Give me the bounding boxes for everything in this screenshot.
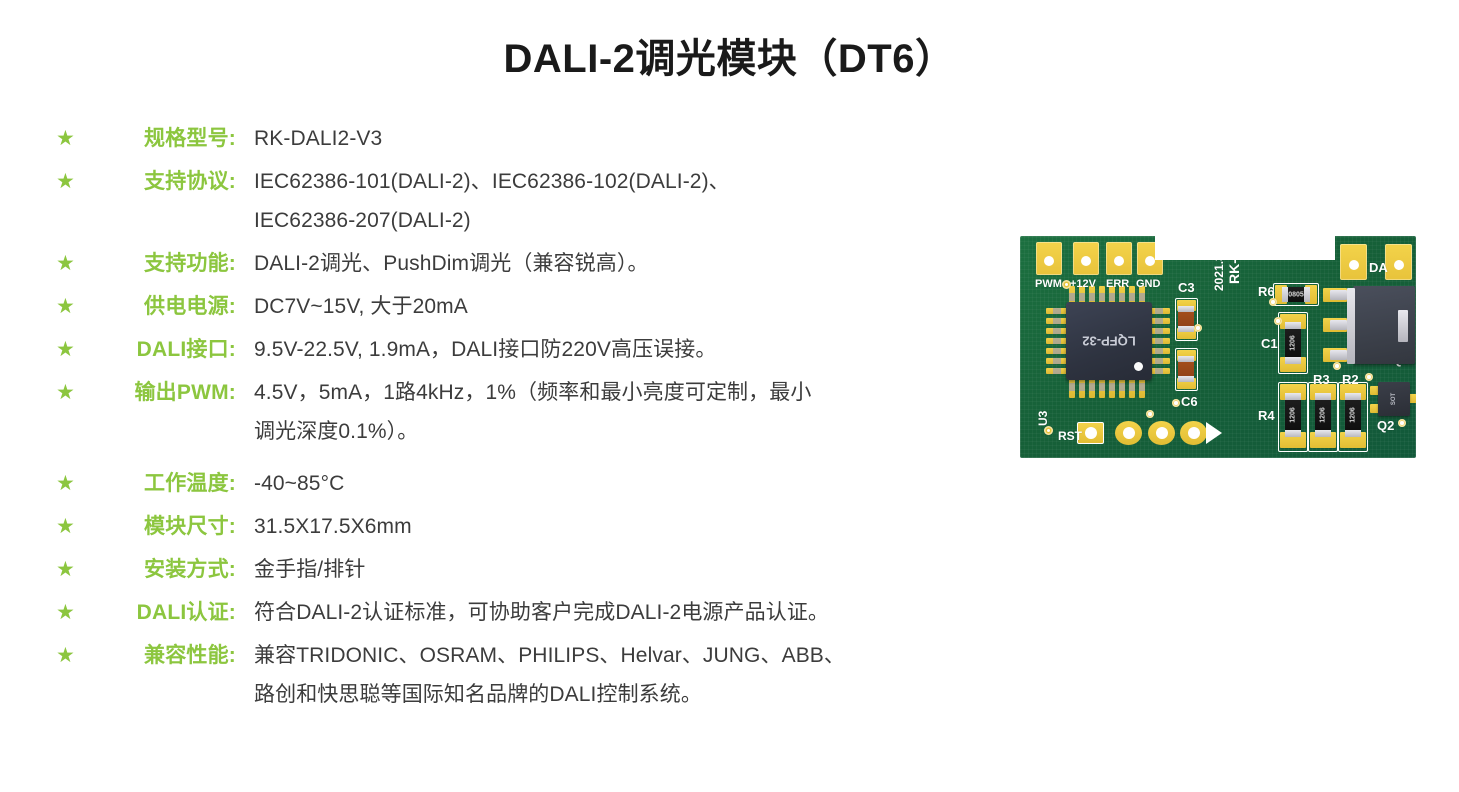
spec-value: 金手指/排针 — [236, 555, 952, 585]
via-hole — [1333, 362, 1341, 370]
spec-label: DALI接口: — [84, 335, 236, 365]
silk-r4: R4 — [1258, 408, 1275, 423]
spec-value: -40~85°C — [236, 469, 952, 499]
silk-rst: RST — [1058, 429, 1082, 443]
pad-da-right — [1385, 244, 1412, 280]
spec-value: IEC62386-101(DALI-2)、IEC62386-102(DALI-2… — [236, 167, 952, 197]
q3-lead-2 — [1330, 320, 1347, 330]
star-icon: ★ — [52, 167, 84, 197]
spec-row: ★ 安装方式: 金手指/排针 — [52, 555, 952, 585]
spec-value: DC7V~15V, 大于20mA — [236, 292, 952, 322]
star-icon: ★ — [52, 598, 84, 628]
star-icon: ★ — [52, 335, 84, 365]
pcb-top-notch — [1155, 234, 1335, 260]
spec-label: 模块尺寸: — [84, 512, 236, 542]
star-icon: ★ — [52, 378, 84, 408]
via-hole — [1044, 426, 1053, 435]
spec-row-continuation: ★ IEC62386-207(DALI-2) — [52, 206, 952, 236]
spec-label: 安装方式: — [84, 555, 236, 585]
q3-lead-1 — [1330, 290, 1347, 300]
spec-row: ★ 模块尺寸: 31.5X17.5X6mm — [52, 512, 952, 542]
pad-12v — [1073, 242, 1099, 275]
c3-capacitor — [1178, 306, 1194, 332]
q2-code: SOT — [1391, 393, 1397, 405]
spec-value: DALI-2调光、PushDim调光（兼容锐高）。 — [236, 249, 952, 279]
spec-value: RK-DALI2-V3 — [236, 124, 952, 154]
spec-row: ★ 支持功能: DALI-2调光、PushDim调光（兼容锐高）。 — [52, 249, 952, 279]
via-hole — [1172, 399, 1180, 407]
r4-code: 1206 — [1290, 407, 1297, 423]
chip-label: LQFP-32 — [1082, 334, 1135, 349]
silk-c6: C6 — [1181, 394, 1198, 409]
via-hole — [1194, 324, 1202, 332]
c1-code: 1206 — [1290, 335, 1297, 351]
star-icon: ★ — [52, 469, 84, 499]
silk-gnd: GND — [1136, 278, 1160, 290]
c6-capacitor — [1178, 356, 1194, 382]
spec-row: ★ 兼容性能: 兼容TRIDONIC、OSRAM、PHILIPS、Helvar、… — [52, 641, 952, 671]
silk-u3: U3 — [1036, 411, 1050, 426]
spec-row: ★ 供电电源: DC7V~15V, 大于20mA — [52, 292, 952, 322]
r6-code: 0805 — [1288, 291, 1304, 298]
star-icon: ★ — [52, 641, 84, 671]
chip-pin1-dot — [1134, 362, 1143, 371]
silk-pwm: PWM — [1035, 278, 1062, 290]
via-hole — [1146, 410, 1154, 418]
spec-label: 规格型号: — [84, 124, 236, 154]
r3-code: 1206 — [1320, 407, 1327, 423]
mcu-chip: LQFP-32 — [1066, 302, 1152, 380]
spec-label: 输出PWM: — [84, 378, 236, 408]
spec-row: ★ 输出PWM: 4.5V，5mA，1路4kHz，1%（频率和最小亮度可定制，最… — [52, 378, 952, 408]
spec-value: 兼容TRIDONIC、OSRAM、PHILIPS、Helvar、JUNG、ABB… — [236, 641, 952, 671]
silk-r3: R3 — [1313, 372, 1330, 387]
q2-package: SOT — [1378, 382, 1410, 416]
spec-row: ★ 工作温度: -40~85°C — [52, 469, 952, 499]
spec-row: ★ DALI接口: 9.5V-22.5V, 1.9mA，DALI接口防220V高… — [52, 335, 952, 365]
spec-label: DALI认证: — [84, 598, 236, 628]
spec-value: 路创和快思聪等国际知名品牌的DALI控制系统。 — [236, 680, 952, 710]
q3-lead-right — [1398, 310, 1408, 342]
spec-value: 符合DALI-2认证标准，可协助客户完成DALI-2电源产品认证。 — [236, 598, 952, 628]
pad-round-3 — [1180, 421, 1207, 445]
r4-resistor: 1206 — [1285, 393, 1301, 437]
spec-value: 9.5V-22.5V, 1.9mA，DALI接口防220V高压误接。 — [236, 335, 952, 365]
silk-err: ERR — [1106, 278, 1129, 290]
silk-r6: R6 — [1258, 284, 1275, 299]
spec-row-continuation: ★ 调光深度0.1%）。 — [52, 417, 952, 447]
spec-value: 31.5X17.5X6mm — [236, 512, 952, 542]
polarity-triangle-icon — [1206, 422, 1222, 444]
silk-da: DA — [1369, 260, 1388, 275]
spec-value: 4.5V，5mA，1路4kHz，1%（频率和最小亮度可定制，最小 — [236, 378, 952, 408]
pad-err — [1106, 242, 1132, 275]
page-title: DALI-2调光模块（DT6） — [0, 26, 1459, 84]
spec-row: ★ DALI认证: 符合DALI-2认证标准，可协助客户完成DALI-2电源产品… — [52, 598, 952, 628]
star-icon: ★ — [52, 124, 84, 154]
spec-row-continuation: ★ 路创和快思聪等国际知名品牌的DALI控制系统。 — [52, 680, 952, 710]
r2-resistor: 1206 — [1345, 393, 1361, 437]
star-icon: ★ — [52, 249, 84, 279]
specification-list: ★ 规格型号: RK-DALI2-V3 ★ 支持协议: IEC62386-101… — [52, 124, 952, 723]
q3-lead-3 — [1330, 350, 1347, 360]
c1-capacitor: 1206 — [1285, 322, 1301, 364]
r6-resistor: 0805 — [1282, 287, 1310, 302]
via-hole — [1274, 317, 1282, 325]
spec-label: 供电电源: — [84, 292, 236, 322]
spec-value: 调光深度0.1%）。 — [236, 417, 952, 447]
via-hole — [1269, 298, 1277, 306]
pcb-board: PWM +12V ERR GND DA — [1020, 236, 1416, 458]
r3-resistor: 1206 — [1315, 393, 1331, 437]
spec-label: 支持功能: — [84, 249, 236, 279]
silk-12v: +12V — [1070, 278, 1096, 290]
star-icon: ★ — [52, 292, 84, 322]
spec-label: 兼容性能: — [84, 641, 236, 671]
silk-r2: R2 — [1342, 372, 1359, 387]
r2-code: 1206 — [1350, 407, 1357, 423]
spec-label: 工作温度: — [84, 469, 236, 499]
spec-row: ★ 支持协议: IEC62386-101(DALI-2)、IEC62386-10… — [52, 167, 952, 197]
q3-lead-bar — [1347, 288, 1355, 364]
via-hole — [1365, 373, 1373, 381]
silk-c1: C1 — [1261, 336, 1278, 351]
silk-q2: Q2 — [1377, 418, 1394, 433]
star-icon: ★ — [52, 512, 84, 542]
pad-da-left — [1340, 244, 1367, 280]
pad-pwm — [1036, 242, 1062, 275]
pcb-product-image: PWM +12V ERR GND DA — [1020, 236, 1416, 458]
star-icon: ★ — [52, 555, 84, 585]
spec-value: IEC62386-207(DALI-2) — [236, 206, 952, 236]
via-hole — [1398, 419, 1406, 427]
spec-label: 支持协议: — [84, 167, 236, 197]
pad-round-1 — [1115, 421, 1142, 445]
silk-c3: C3 — [1178, 280, 1195, 295]
spec-row: ★ 规格型号: RK-DALI2-V3 — [52, 124, 952, 154]
pad-round-2 — [1148, 421, 1175, 445]
